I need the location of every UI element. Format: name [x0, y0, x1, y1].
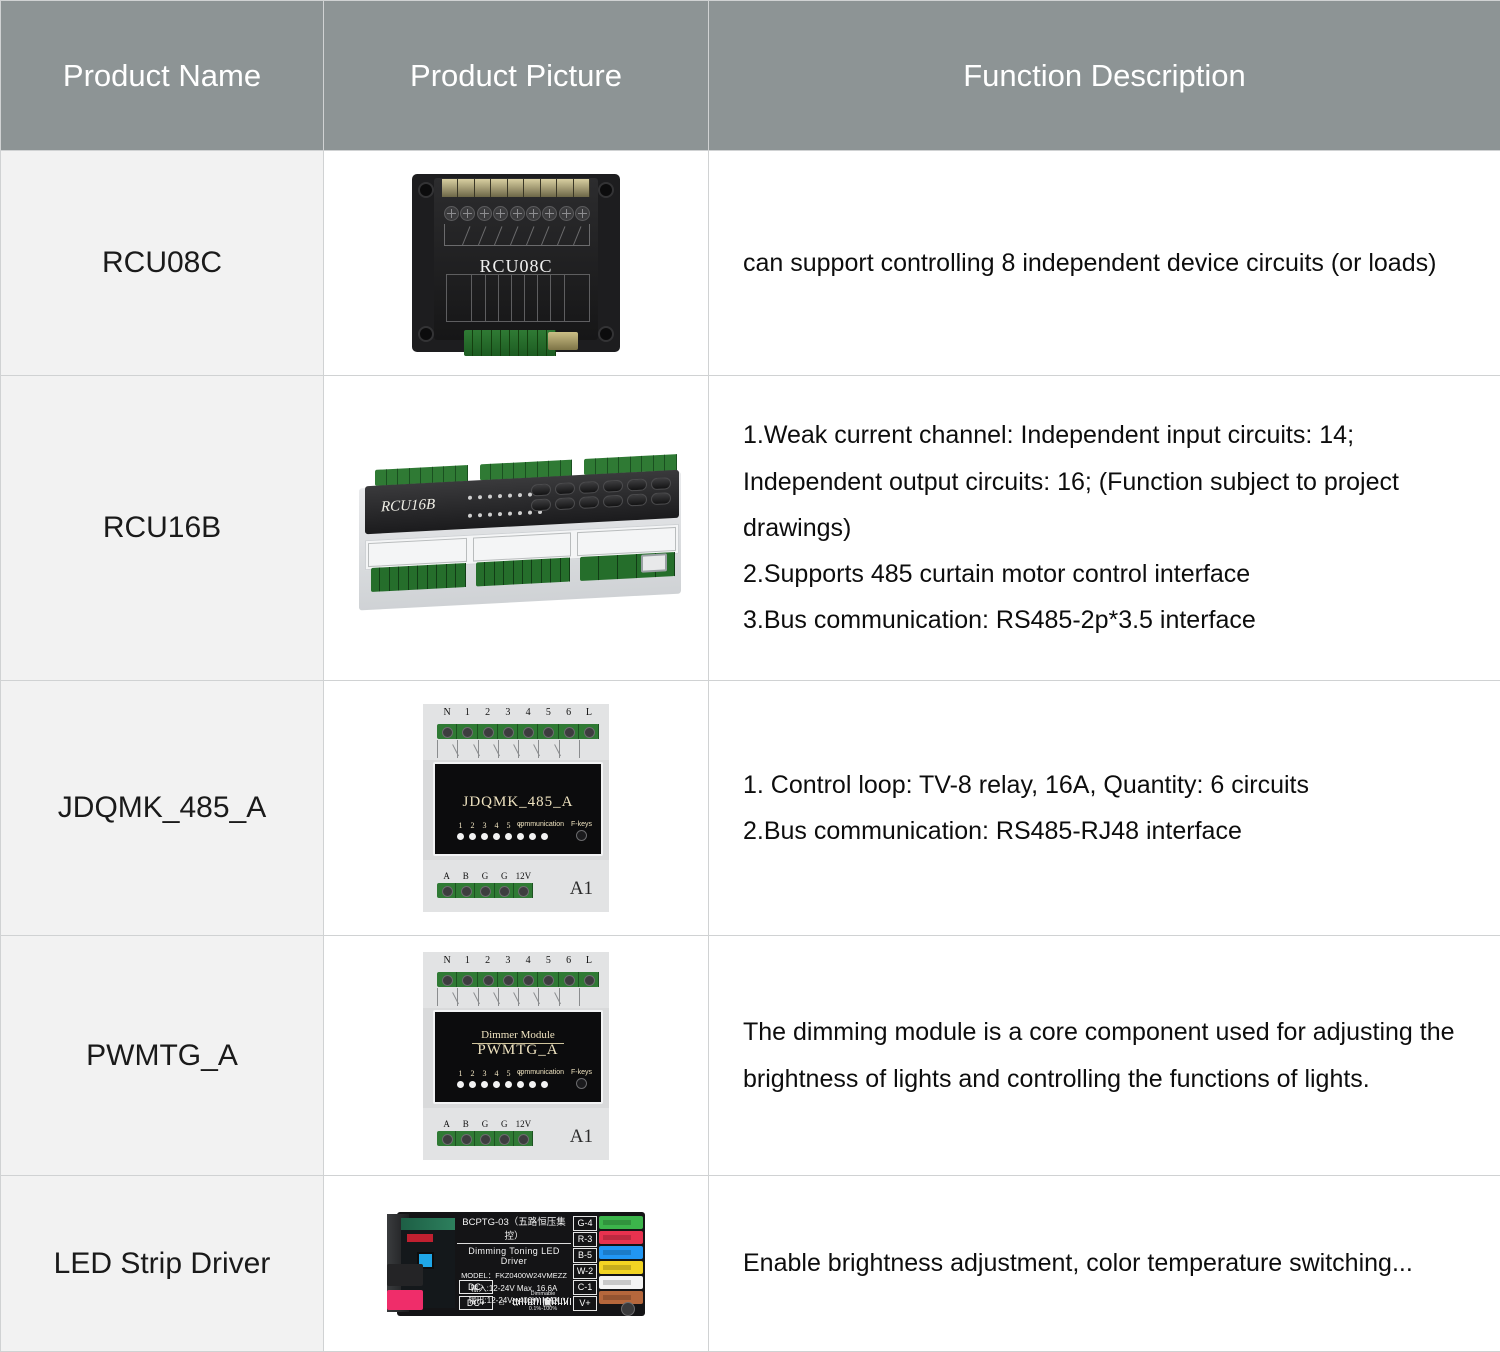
- terminal-label-w2: W-2: [573, 1264, 597, 1279]
- product-name-cell: RCU16B: [1, 376, 324, 681]
- function-button[interactable]: [651, 492, 671, 505]
- bottom-terminal-labels: A B G G 12V: [437, 1119, 533, 1129]
- terminal-label: 3: [498, 707, 518, 718]
- table-row: RCU16B RCU16B: [1, 376, 1500, 681]
- device-model-label: RCU16B: [381, 497, 435, 517]
- function-button[interactable]: [603, 495, 623, 508]
- mount-hole-icon: [418, 326, 434, 342]
- product-image-jdqmk: N 1 2 3 4 5 6 L: [324, 704, 708, 912]
- description-line: 1.Weak current channel: Independent inpu…: [743, 412, 1466, 551]
- product-picture-cell: RCU16B: [324, 376, 709, 681]
- wire-brown: [599, 1291, 643, 1304]
- description-line: 1. Control loop: TV-8 relay, 16A, Quanti…: [743, 762, 1466, 808]
- pink-terminal: [387, 1290, 423, 1310]
- function-description-cell: 1.Weak current channel: Independent inpu…: [709, 376, 1500, 681]
- dimmable-label: Dimmable: [513, 1291, 573, 1297]
- product-name-cell: PWMTG_A: [1, 936, 324, 1176]
- dc-terminal-labels: DC- DC+: [459, 1278, 493, 1310]
- header-function-description: Function Description: [709, 1, 1500, 151]
- terminal-label: B: [456, 1119, 475, 1129]
- terminal-label: 6: [559, 955, 579, 966]
- terminal-label: 12V: [514, 1119, 533, 1129]
- top-terminal-block: [442, 179, 590, 197]
- function-key-label: F-keys: [571, 821, 592, 828]
- function-button[interactable]: [627, 493, 647, 506]
- house-icon: ⌂: [499, 1297, 505, 1308]
- ethernet-port-icon: [641, 553, 667, 572]
- product-picture-cell: N 1 2 3 4 5 6 L: [324, 936, 709, 1176]
- indicator-numbers: 1 2 3 4 5 6: [457, 1069, 524, 1078]
- table-header-row: Product Name Product Picture Function De…: [1, 1, 1500, 151]
- function-button[interactable]: [555, 497, 575, 510]
- terminal-label: 2: [478, 707, 498, 718]
- terminal-label: 4: [518, 707, 538, 718]
- indicator-number: 5: [505, 1069, 512, 1078]
- module-code-label: A1: [570, 1126, 593, 1148]
- dc-negative-label: DC-: [459, 1280, 493, 1294]
- terminal-label: A: [437, 1119, 456, 1129]
- product-name-cell: LED Strip Driver: [1, 1176, 324, 1352]
- function-description-cell: 1. Control loop: TV-8 relay, 16A, Quanti…: [709, 681, 1500, 936]
- screw-icon: [621, 1302, 635, 1316]
- wire-red: [599, 1231, 643, 1244]
- function-description-cell: can support controlling 8 independent de…: [709, 151, 1500, 376]
- product-image-led-driver: BCPTG-03（五路恒压集控） Dimming Toning LED Driv…: [324, 1204, 708, 1324]
- dimmable-indicator: Dimmable 0.1%-100%: [513, 1291, 573, 1312]
- terminal-label: G: [475, 1119, 494, 1129]
- terminal-label: B: [456, 871, 475, 881]
- terminal-label-vplus: V+: [573, 1296, 597, 1311]
- terminal-label: N: [437, 707, 457, 718]
- bottom-terminal-block: [437, 1131, 533, 1146]
- description-line: 2.Supports 485 curtain motor control int…: [743, 551, 1466, 597]
- indicator-number: 5: [505, 821, 512, 830]
- output-terminal-labels: G-4 R-3 B-5 W-2 C-1 V+: [573, 1216, 597, 1312]
- mount-hole-icon: [418, 182, 434, 198]
- terminal-label: 5: [538, 707, 558, 718]
- output-wire-group: [599, 1216, 643, 1306]
- device-rcu08c: RCU08C: [412, 174, 620, 352]
- table-row: JDQMK_485_A N 1 2 3 4 5 6 L: [1, 681, 1500, 936]
- top-terminal-block: [437, 972, 599, 987]
- product-name-cell: JDQMK_485_A: [1, 681, 324, 936]
- function-button[interactable]: [531, 498, 551, 511]
- device-led-strip-driver: BCPTG-03（五路恒压集控） Dimming Toning LED Driv…: [387, 1204, 645, 1324]
- function-description-cell: Enable brightness adjustment, color temp…: [709, 1176, 1500, 1352]
- terminal-label: G: [475, 871, 494, 881]
- description-line: 3.Bus communication: RS485-2p*3.5 interf…: [743, 597, 1466, 643]
- dimmable-range: 0.1%-100%: [513, 1306, 573, 1312]
- product-comparison-table: Product Name Product Picture Function De…: [0, 0, 1500, 1352]
- function-button[interactable]: [531, 483, 551, 496]
- module-code-label: A1: [570, 878, 593, 900]
- bottom-port-legend: [446, 274, 590, 322]
- terminal-label: 1: [457, 955, 477, 966]
- device-jdqmk-485-a: N 1 2 3 4 5 6 L: [423, 704, 609, 912]
- terminal-label: N: [437, 955, 457, 966]
- terminal-label: 5: [538, 955, 558, 966]
- description-line: 2.Bus communication: RS485-RJ48 interfac…: [743, 808, 1466, 854]
- function-button[interactable]: [555, 482, 575, 495]
- terminal-label: 4: [518, 955, 538, 966]
- pcb-strip: [401, 1218, 455, 1230]
- bottom-terminal-block: [437, 883, 533, 898]
- relay-symbol-diagram: [444, 224, 590, 246]
- indicator-number: 3: [481, 821, 488, 830]
- dc-positive-label: DC+: [459, 1296, 493, 1310]
- table-row: PWMTG_A N 1 2 3 4 5 6 L: [1, 936, 1500, 1176]
- black-terminal: [387, 1264, 423, 1286]
- bottom-terminal-labels: A B G G 12V: [437, 871, 533, 881]
- terminal-label-c1: C-1: [573, 1280, 597, 1295]
- indicator-number: 2: [469, 821, 476, 830]
- function-key-label: F-keys: [571, 1069, 592, 1076]
- indicator-number: 1: [457, 1069, 464, 1078]
- terminal-label: 12V: [514, 871, 533, 881]
- header-product-picture: Product Picture: [324, 1, 709, 151]
- relay-wiring-diagram: [437, 740, 599, 758]
- wire-blue: [599, 1246, 643, 1259]
- function-button[interactable]: [651, 477, 671, 490]
- product-picture-cell: N 1 2 3 4 5 6 L: [324, 681, 709, 936]
- terminal-label: 6: [559, 707, 579, 718]
- indicator-number: 3: [481, 1069, 488, 1078]
- product-picture-cell: RCU08C: [324, 151, 709, 376]
- driver-label: BCPTG-03（五路恒压集控） Dimming Toning LED Driv…: [457, 1214, 571, 1314]
- status-led-group: [457, 1081, 548, 1088]
- product-image-rcu08c: RCU08C: [324, 174, 708, 352]
- relay-wiring-diagram: [437, 988, 599, 1006]
- terminal-label: G: [495, 871, 514, 881]
- front-panel: JDQMK_485_A 1 2 3 4 5 6 communication: [433, 762, 603, 856]
- front-panel: Dimmer Module PWMTG_A 1 2 3 4 5 6 commun…: [433, 1010, 603, 1104]
- wire-white: [599, 1276, 643, 1289]
- function-key-button[interactable]: [576, 830, 587, 841]
- product-image-pwmtg: N 1 2 3 4 5 6 L: [324, 952, 708, 1160]
- wire-yellow: [599, 1261, 643, 1274]
- function-button[interactable]: [627, 478, 647, 491]
- wire-green: [599, 1216, 643, 1229]
- driver-subtitle: Dimming Toning LED Driver: [457, 1246, 571, 1266]
- top-terminal-block: [437, 724, 599, 739]
- mount-hole-icon: [598, 326, 614, 342]
- function-button[interactable]: [579, 496, 599, 509]
- terminal-label-b5: B-5: [573, 1248, 597, 1263]
- terminal-label: L: [579, 707, 599, 718]
- red-component: [407, 1234, 433, 1242]
- description-line: Enable brightness adjustment, color temp…: [743, 1240, 1466, 1286]
- terminal-label: 3: [498, 955, 518, 966]
- communication-label: communication: [517, 1069, 564, 1076]
- screw-terminal-row: [444, 206, 590, 221]
- device-model-label: PWMTG_A: [435, 1042, 601, 1059]
- device-model-label: JDQMK_485_A: [435, 794, 601, 811]
- function-description-cell: The dimming module is a core component u…: [709, 936, 1500, 1176]
- network-port-icon: [548, 332, 578, 350]
- terminal-label-r3: R-3: [573, 1232, 597, 1247]
- device-pwmtg-a: N 1 2 3 4 5 6 L: [423, 952, 609, 1160]
- table-row: RCU08C: [1, 151, 1500, 376]
- indicator-number: 4: [493, 821, 500, 830]
- indicator-number: 1: [457, 821, 464, 830]
- function-button-group[interactable]: [531, 477, 671, 511]
- dimmable-bar: [513, 1298, 573, 1305]
- function-button[interactable]: [579, 481, 599, 494]
- terminal-label: L: [579, 955, 599, 966]
- terminal-label: 1: [457, 707, 477, 718]
- driver-model-title: BCPTG-03（五路恒压集控）: [457, 1214, 571, 1244]
- header-product-name: Product Name: [1, 1, 324, 151]
- terminal-label: A: [437, 871, 456, 881]
- table-row: LED Strip Driver BCPTG: [1, 1176, 1500, 1352]
- terminal-label: G: [495, 1119, 514, 1129]
- description-line: can support controlling 8 independent de…: [743, 240, 1466, 286]
- green-terminal-connector: [464, 330, 556, 356]
- terminal-label: 2: [478, 955, 498, 966]
- top-terminal-labels: N 1 2 3 4 5 6 L: [437, 707, 599, 718]
- product-picture-cell: BCPTG-03（五路恒压集控） Dimming Toning LED Driv…: [324, 1176, 709, 1352]
- top-terminal-labels: N 1 2 3 4 5 6 L: [437, 955, 599, 966]
- communication-label: communication: [517, 821, 564, 828]
- description-line: The dimming module is a core component u…: [743, 1009, 1466, 1102]
- indicator-number: 2: [469, 1069, 476, 1078]
- indicator-numbers: 1 2 3 4 5 6: [457, 821, 524, 830]
- mount-hole-icon: [598, 182, 614, 198]
- product-image-rcu16b: RCU16B: [324, 454, 708, 602]
- terminal-label-g4: G-4: [573, 1216, 597, 1231]
- function-button[interactable]: [603, 480, 623, 493]
- function-key-button[interactable]: [576, 1078, 587, 1089]
- device-rcu16b: RCU16B: [351, 454, 681, 602]
- indicator-number: 4: [493, 1069, 500, 1078]
- status-led-group: [457, 833, 548, 840]
- product-name-cell: RCU08C: [1, 151, 324, 376]
